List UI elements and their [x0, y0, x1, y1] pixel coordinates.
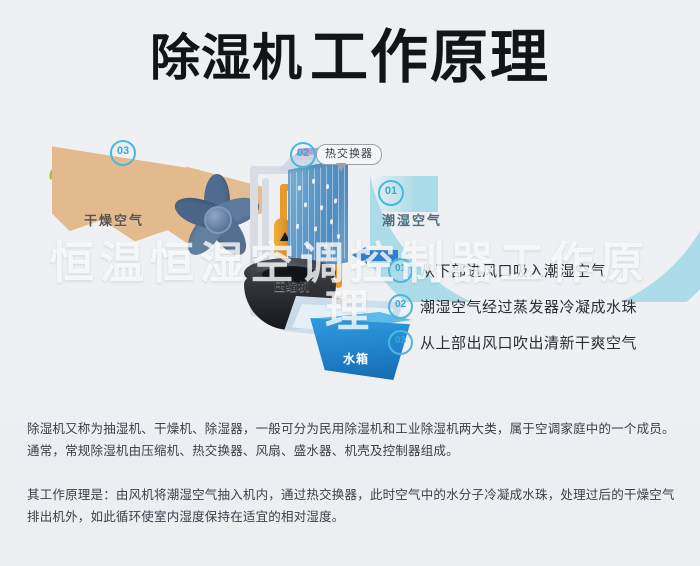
heat-exchanger-callout: 热交换器: [316, 144, 382, 165]
step-text: 从下部进风口吸入潮湿空气: [420, 260, 606, 281]
step-text: 潮湿空气经过蒸发器冷凝成水珠: [420, 296, 637, 317]
page-title: 除湿机工作原理: [0, 26, 700, 90]
compressor-label: 压缩机: [262, 278, 322, 294]
step-badge: 02: [388, 294, 413, 319]
water-tank-label: 水箱: [330, 350, 382, 367]
condensation-drops-icon: [292, 171, 344, 269]
infographic-page: 除湿机工作原理 干燥空气: [0, 0, 700, 566]
page-title-part1: 除湿机: [150, 30, 303, 86]
step-badge: 03: [388, 330, 413, 355]
step-text: 从上部出风口吹出清新干爽空气: [420, 332, 637, 353]
step-badge: 01: [388, 258, 413, 283]
description-paragraph-2: 其工作原理是：由风机将潮湿空气抽入机内，通过热交换器，此时空气中的水分子冷凝成水…: [27, 484, 675, 528]
diagram-badge-01: 01: [378, 180, 404, 206]
fan-hub-icon: [204, 206, 232, 234]
diagram-badge-02: 02: [290, 142, 316, 168]
diagram-badge-03: 03: [110, 140, 136, 166]
page-title-part2: 工作原理: [310, 25, 550, 90]
list-item: 02 潮湿空气经过蒸发器冷凝成水珠: [388, 288, 688, 324]
callout-pointer-icon: [336, 163, 346, 172]
list-item: 01 从下部进风口吸入潮湿空气: [388, 252, 688, 288]
humid-air-label: 潮湿空气: [382, 210, 442, 229]
list-item: 03 从上部出风口吹出清新干爽空气: [388, 324, 688, 360]
process-step-list: 01 从下部进风口吸入潮湿空气 02 潮湿空气经过蒸发器冷凝成水珠 03 从上部…: [388, 252, 688, 360]
description-paragraph-1: 除湿机又称为抽湿机、干燥机、除湿器，一般可分为民用除湿机和工业除湿机两大类，属于…: [27, 418, 675, 462]
